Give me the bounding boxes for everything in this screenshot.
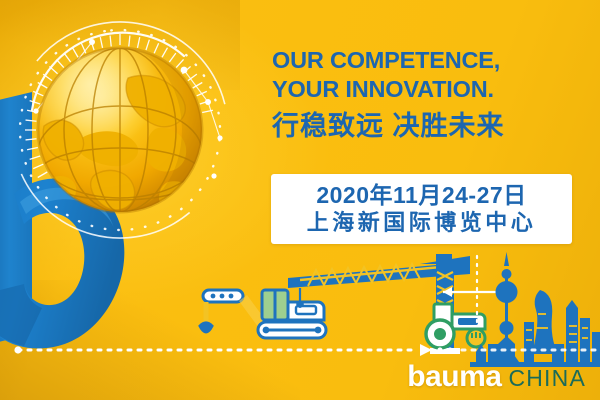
headline-block: OUR COMPETENCE, YOUR INNOVATION. 行稳致远 决胜…: [272, 46, 592, 145]
road-roller-icon: [426, 304, 485, 348]
logo-brand-text: bauma: [407, 362, 501, 392]
dotted-ground-line: [14, 344, 452, 356]
headline-line-2: YOUR INNOVATION.: [272, 75, 592, 104]
bauma-china-poster: OUR COMPETENCE, YOUR INNOVATION. 行稳致远 决胜…: [0, 0, 600, 400]
bauma-china-logo: bauma CHINA: [407, 362, 586, 392]
event-venue: 上海新国际博览中心: [307, 210, 537, 236]
golden-globe-graphic: [8, 18, 238, 248]
headline-line-1: OUR COMPETENCE,: [272, 46, 592, 75]
small-crane-icon: [200, 290, 243, 332]
machinery-illustration-strip: [0, 252, 600, 367]
event-dates: 2020年11月24-27日: [316, 182, 526, 209]
logo-region-text: CHINA: [508, 367, 586, 390]
headline-line-3-chinese: 行稳致远 决胜未来: [272, 107, 592, 145]
excavator-icon: [258, 290, 326, 338]
date-venue-band: 2020年11月24-27日 上海新国际博览中心: [271, 174, 572, 244]
